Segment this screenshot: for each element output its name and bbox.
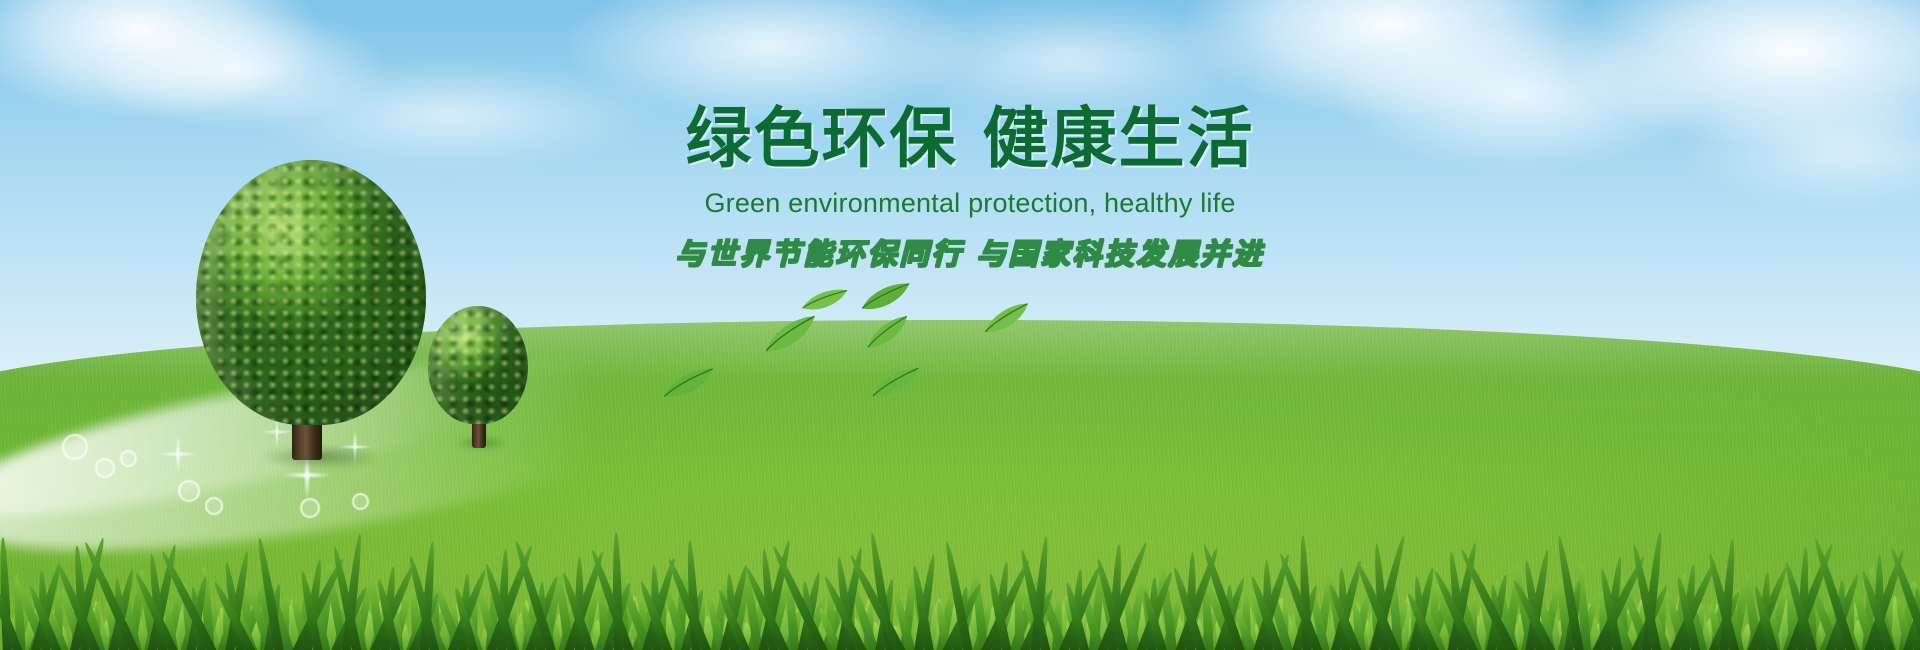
bokeh-icon: [95, 458, 115, 478]
tree-canopy: [428, 306, 528, 424]
bokeh-icon: [352, 493, 369, 510]
bokeh-icon: [300, 498, 320, 518]
bokeh-icon: [62, 434, 88, 460]
tree-canopy: [196, 160, 426, 425]
cloud-icon: [90, 10, 390, 130]
banner-subtitle-en: Green environmental protection, healthy …: [620, 188, 1320, 219]
eco-banner: 绿色环保 健康生活 Green environmental protection…: [0, 0, 1920, 650]
leaf-icon: [856, 280, 916, 316]
banner-copy: 绿色环保 健康生活 Green environmental protection…: [620, 104, 1320, 273]
cloud-icon: [240, 60, 660, 170]
foreground-grass: [0, 520, 1920, 650]
bokeh-icon: [205, 497, 223, 515]
large-tree: [196, 160, 426, 460]
cloud-icon: [1680, 90, 1920, 210]
bokeh-icon: [120, 450, 137, 467]
cloud-icon: [1560, 0, 1920, 150]
cloud-icon: [1330, 20, 1710, 170]
banner-headline: 绿色环保 健康生活: [620, 104, 1320, 174]
bokeh-icon: [178, 480, 200, 502]
small-tree: [428, 306, 528, 446]
foliage-texture: [196, 160, 426, 425]
foliage-texture: [428, 306, 528, 424]
cloud-icon: [0, 0, 320, 120]
banner-subtitle-cn: 与世界节能环保同行 与国家科技发展并进: [620, 231, 1320, 273]
leaf-icon: [799, 287, 851, 315]
